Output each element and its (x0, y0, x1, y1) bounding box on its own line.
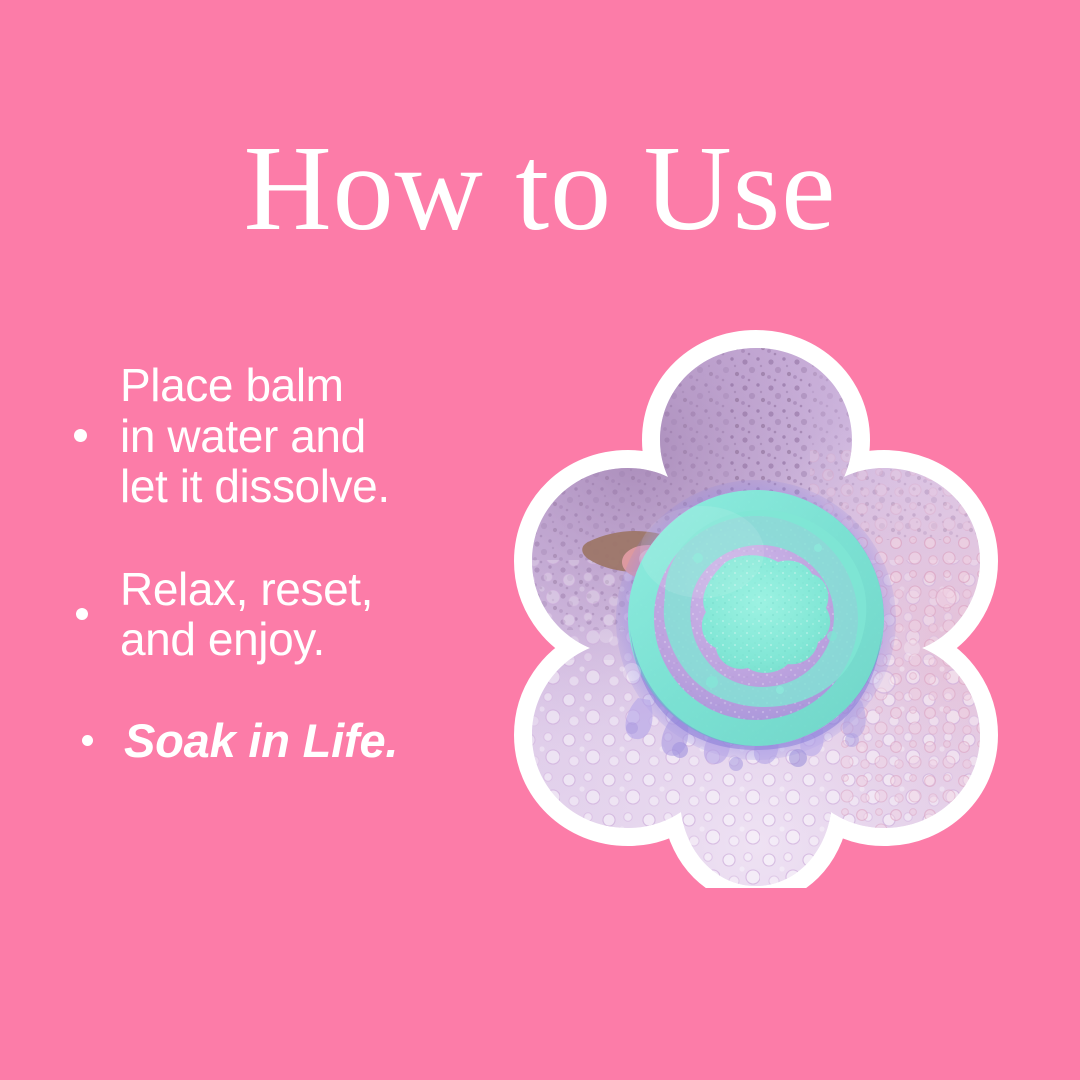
bath-bomb (628, 490, 884, 750)
bullet-dot-icon (74, 429, 87, 442)
flower-photo-svg (480, 330, 1032, 888)
poster-canvas: How to Use Place balm in water and let i… (0, 0, 1080, 1080)
list-item-place-balm: Place balm in water and let it dissolve. (62, 360, 482, 512)
product-photo-flower (480, 330, 1032, 888)
list-item-relax-reset: Relax, reset, and enjoy. (62, 564, 482, 665)
list-item-label: Place balm in water and let it dissolve. (120, 360, 390, 512)
list-item-soak-in-life: Soak in Life. (62, 715, 482, 767)
list-item-label: Soak in Life. (124, 715, 398, 767)
bullet-dot-icon (82, 735, 93, 746)
how-to-use-steps-list: Place balm in water and let it dissolve.… (62, 360, 482, 767)
list-item-label: Relax, reset, and enjoy. (120, 564, 373, 665)
bullet-dot-icon (76, 608, 88, 620)
page-title: How to Use (0, 128, 1080, 250)
